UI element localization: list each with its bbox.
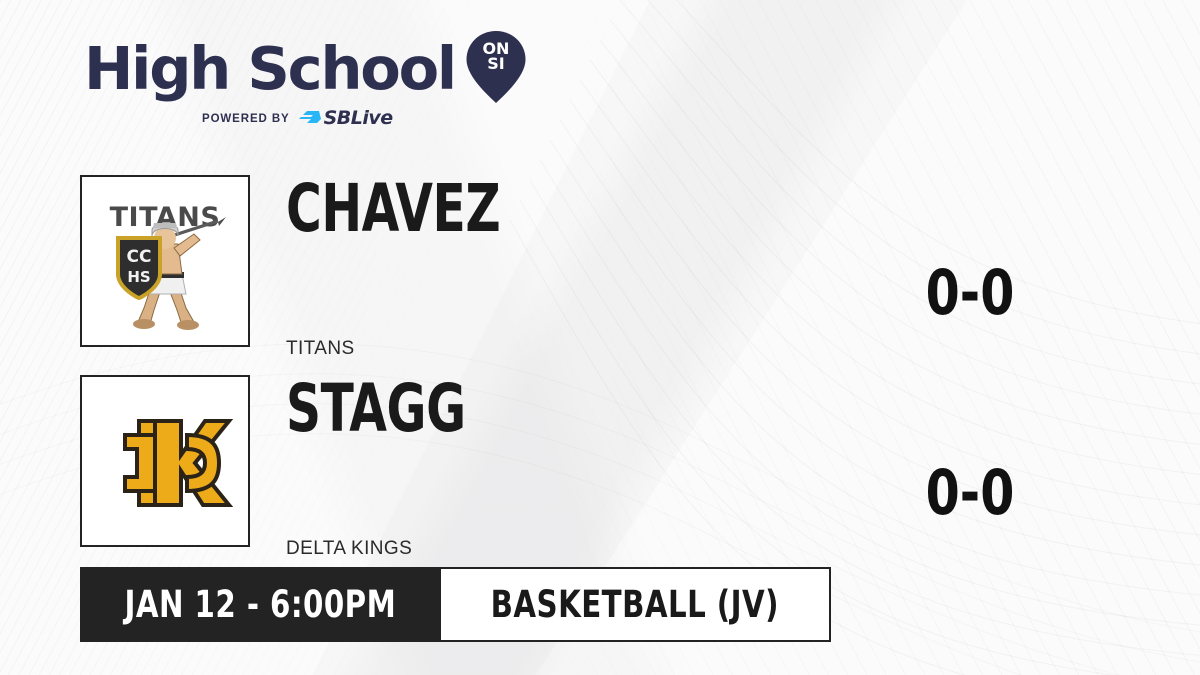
on-si-pin-icon: ON SI bbox=[465, 30, 527, 104]
team-mascot-1: TITANS bbox=[286, 338, 355, 360]
team-logo-box-1: TITANS bbox=[80, 175, 250, 347]
team-name-1: CHAVEZ bbox=[286, 176, 500, 242]
team-record-2: 0-0 bbox=[910, 462, 1030, 524]
team-mascot-2: DELTA KINGS bbox=[286, 538, 412, 560]
sblive-logo: SBLive bbox=[299, 109, 393, 128]
powered-by-label: POWERED BY bbox=[202, 113, 290, 125]
team-logo-box-2 bbox=[80, 375, 250, 547]
svg-text:HS: HS bbox=[127, 268, 150, 286]
powered-by-row: POWERED BY SBLive bbox=[84, 109, 527, 128]
scoreboard-graphic: High School ON SI POWERED BY SBLive bbox=[0, 0, 1200, 675]
sblive-s-mark-icon bbox=[299, 110, 321, 128]
pin-label-bottom: SI bbox=[465, 56, 527, 71]
brand-wordmark: High School bbox=[84, 39, 455, 98]
delta-kings-dk-monogram-icon bbox=[82, 377, 248, 545]
team-record-1: 0-0 bbox=[910, 262, 1030, 324]
brand-header: High School ON SI POWERED BY SBLive bbox=[84, 32, 527, 128]
sblive-wordmark: SBLive bbox=[324, 109, 393, 128]
event-sport-block: BASKETBALL (JV) bbox=[441, 567, 831, 642]
event-info-bar: JAN 12 - 6:00PM BASKETBALL (JV) bbox=[80, 567, 831, 642]
event-datetime-text: JAN 12 - 6:00PM bbox=[125, 586, 397, 623]
team-name-2: STAGG bbox=[286, 376, 466, 442]
titans-warrior-logo-icon: TITANS bbox=[82, 177, 248, 345]
event-sport-text: BASKETBALL (JV) bbox=[491, 586, 779, 623]
svg-text:CC: CC bbox=[127, 247, 152, 267]
event-datetime-block: JAN 12 - 6:00PM bbox=[80, 567, 441, 642]
